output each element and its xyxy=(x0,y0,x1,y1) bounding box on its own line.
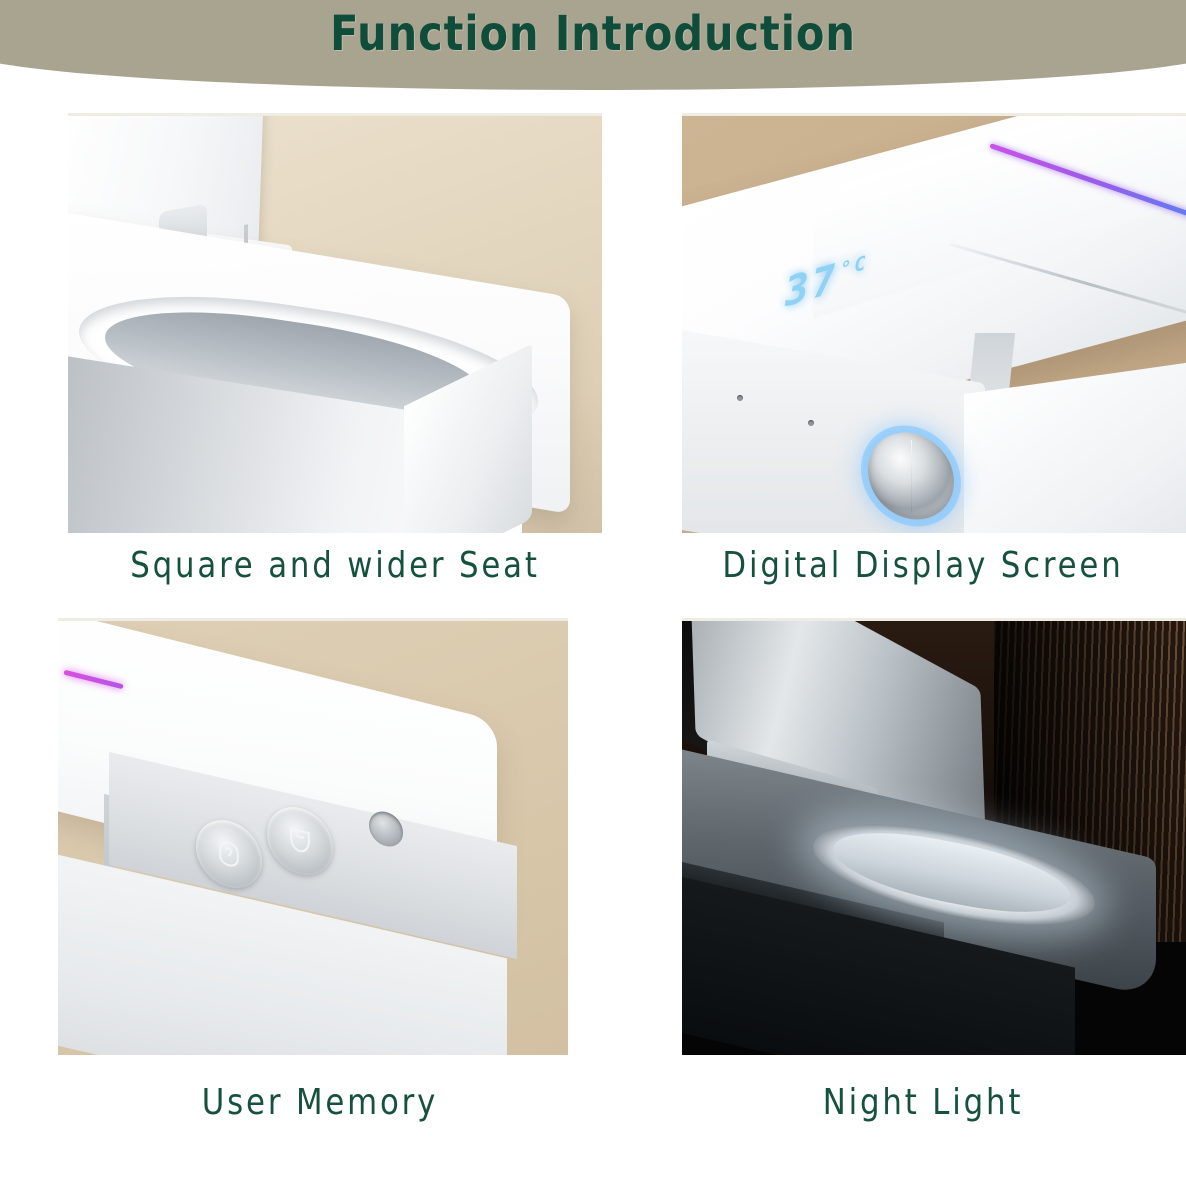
photo-user-memory xyxy=(58,618,568,1055)
caption-night-light: Night Light xyxy=(673,1082,1173,1123)
user-memory-1-icon xyxy=(214,835,244,872)
feature-card-square-seat[interactable] xyxy=(68,113,602,533)
caption-user-memory: User Memory xyxy=(54,1082,586,1123)
caption-digital-display: Digital Display Screen xyxy=(673,545,1173,586)
feature-card-night-light[interactable] xyxy=(682,618,1186,1055)
feature-grid: Square and wider Seat 37°C Digital Displ… xyxy=(0,0,1186,1186)
photo-digital-display: 37°C xyxy=(682,113,1186,533)
feature-card-user-memory[interactable] xyxy=(58,618,568,1055)
photo-square-seat xyxy=(68,113,602,533)
photo-night-light xyxy=(682,618,1186,1055)
display-temperature-unit: °C xyxy=(838,251,870,282)
caption-square-seat: Square and wider Seat xyxy=(55,545,616,586)
feature-card-digital-display[interactable]: 37°C xyxy=(682,113,1186,533)
user-memory-2-icon xyxy=(285,822,315,859)
